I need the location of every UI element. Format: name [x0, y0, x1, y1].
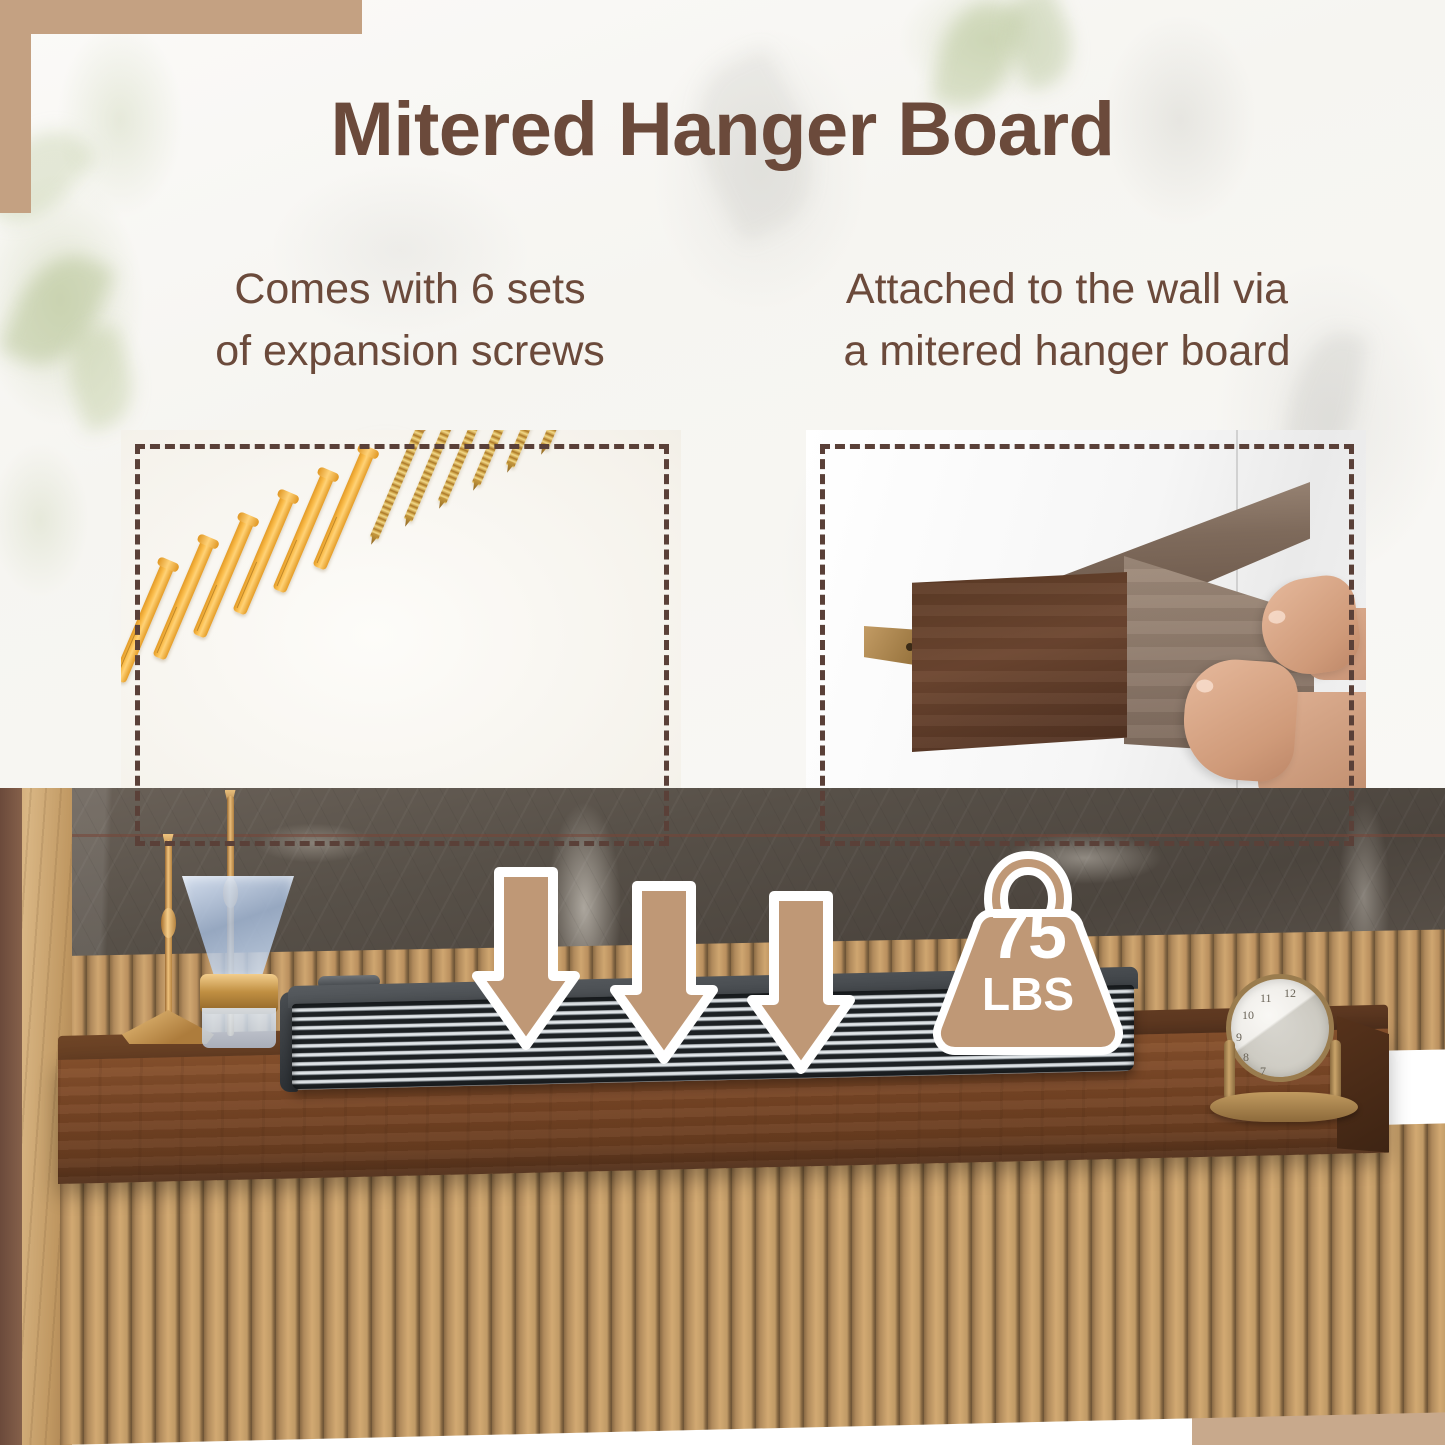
vintage-desk-clock: 12 11 10 9 8 7: [1212, 974, 1360, 1124]
weight-unit: LBS: [908, 971, 1148, 1017]
vase-cone: [182, 876, 294, 981]
wall-mount-installation-photo: [806, 430, 1366, 840]
vase-glass-base: [202, 1008, 276, 1048]
screw-photo-inner: [121, 430, 681, 840]
down-arrow-icon: [745, 890, 857, 1075]
mount-photo-inner: [806, 430, 1366, 840]
candle-bulge: [161, 908, 176, 938]
corner-frame-top: [0, 0, 362, 34]
mantel-end-face: [912, 572, 1127, 752]
down-arrow-icon: [608, 880, 720, 1065]
feature-caption-right-line1: Attached to the wall via: [846, 265, 1288, 313]
feature-caption-left: Comes with 6 sets of expansion screws: [100, 258, 720, 383]
clock-numeral: 9: [1236, 1030, 1242, 1045]
weight-value: 75: [908, 899, 1148, 969]
marble-seam-line: [64, 834, 1445, 837]
clock-numeral: 7: [1260, 1064, 1266, 1079]
living-room-floating-shelf-scene: 12 11 10 9 8 7: [0, 788, 1445, 1445]
down-arrow-icon: [470, 866, 582, 1051]
fingernail-icon: [1268, 609, 1287, 624]
clock-numeral: 11: [1260, 991, 1272, 1006]
expansion-screw-set-photo: [121, 430, 681, 840]
clock-face: [1221, 969, 1340, 1088]
feature-caption-right-line2: a mitered hanger board: [722, 320, 1412, 382]
clock-post-right: [1330, 1040, 1341, 1100]
clock-numeral: 12: [1284, 986, 1296, 1001]
clock-numeral: 8: [1243, 1050, 1249, 1065]
page-title: Mitered Hanger Board: [0, 92, 1445, 168]
feature-caption-left-line2: of expansion screws: [100, 320, 720, 382]
clock-wooden-stand: [1210, 1092, 1358, 1122]
feature-caption-left-line1: Comes with 6 sets: [234, 265, 585, 313]
feature-caption-right: Attached to the wall via a mitered hange…: [722, 258, 1412, 383]
fingernail-icon: [1196, 679, 1214, 693]
leaf-shadow-icon: [994, 0, 1086, 94]
clock-post-left: [1224, 1040, 1235, 1100]
left-wall-edge: [0, 788, 22, 1445]
weight-capacity-badge: 75 LBS: [908, 845, 1148, 1060]
infographic-canvas: Mitered Hanger Board Comes with 6 sets o…: [0, 0, 1445, 1445]
clock-numeral: 10: [1242, 1008, 1254, 1023]
